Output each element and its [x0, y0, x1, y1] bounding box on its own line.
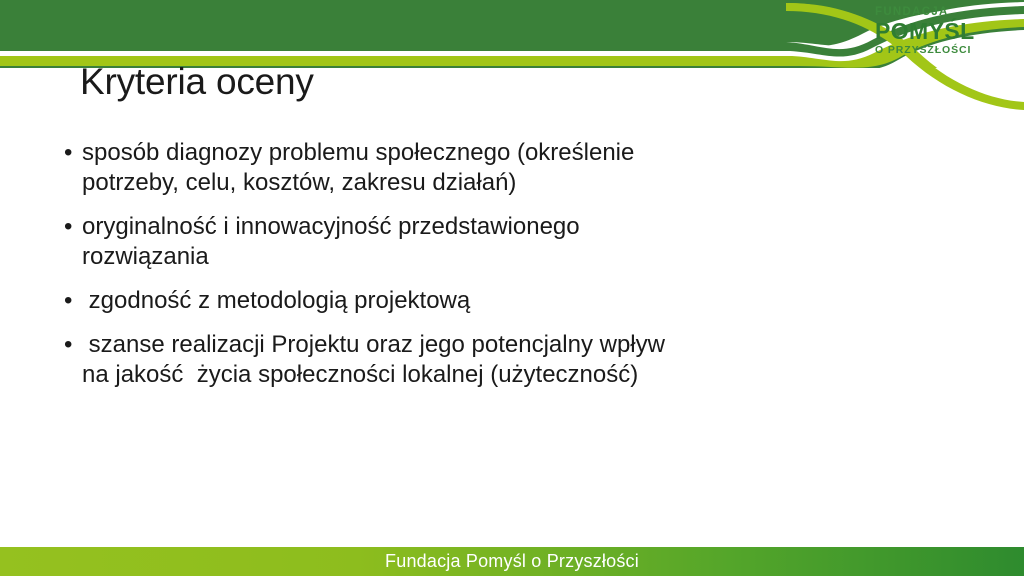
header-brand-logo: FUNDACJA POMYŚL O PRZYSZŁOŚCI	[826, 8, 1012, 54]
bullet-marker-icon: •	[64, 138, 82, 168]
list-item-text: zgodność z metodologią projektową	[82, 286, 470, 316]
slide: FUNDACJA POMYŚL O PRZYSZŁOŚCI Kryteria o…	[0, 0, 1024, 576]
list-item: • sposób diagnozy problemu społecznego (…	[64, 138, 804, 198]
list-item-text: szanse realizacji Projektu oraz jego pot…	[82, 330, 665, 390]
bullet-marker-icon: •	[64, 212, 82, 242]
footer-bar-text: Fundacja Pomyśl o Przyszłości	[0, 547, 1024, 576]
bullet-list: • sposób diagnozy problemu społecznego (…	[64, 138, 804, 404]
list-item: • oryginalność i innowacyjność przedstaw…	[64, 212, 804, 272]
list-item: • zgodność z metodologią projektową	[64, 286, 804, 316]
footer-bar: Fundacja Pomyśl o Przyszłości	[0, 547, 1024, 576]
list-item-text: oryginalność i innowacyjność przedstawio…	[82, 212, 580, 272]
fundacja-tree-icon	[826, 9, 868, 53]
list-item: • szanse realizacji Projektu oraz jego p…	[64, 330, 804, 390]
footer-logo-strip: FUNDACJA POMYŚL O PRZYSZŁOŚCI KOMITET DO…	[0, 476, 1024, 542]
page-title: Kryteria oceny	[80, 61, 314, 103]
bullet-marker-icon: •	[64, 286, 82, 316]
bullet-marker-icon: •	[64, 330, 82, 360]
list-item-text: sposób diagnozy problemu społecznego (ok…	[82, 138, 634, 198]
